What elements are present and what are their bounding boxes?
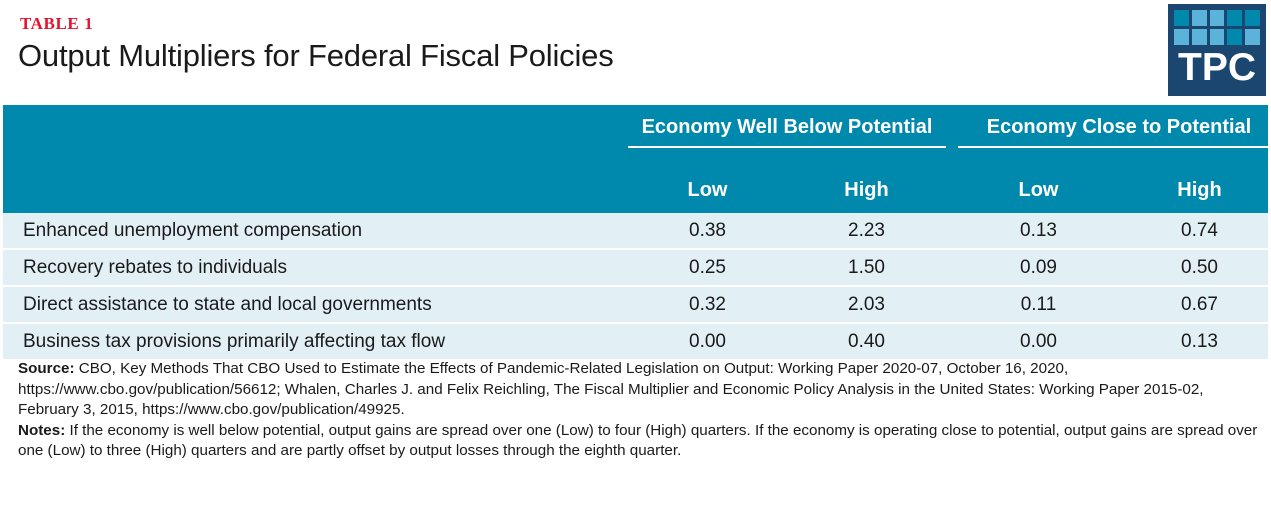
cell-value: 0.32: [628, 294, 787, 316]
logo-cell: [1227, 10, 1242, 26]
group-header-row: Economy Well Below Potential Economy Clo…: [3, 105, 1268, 167]
cell-value: 0.40: [787, 331, 946, 353]
page-title: Output Multipliers for Federal Fiscal Po…: [18, 38, 614, 74]
source-text: CBO, Key Methods That CBO Used to Estima…: [18, 360, 1204, 418]
group-header-close-to-label: Economy Close to Potential: [987, 116, 1251, 138]
logo-wordmark: TPC: [1168, 46, 1266, 90]
source-note: Source: CBO, Key Methods That CBO Used t…: [18, 359, 1260, 421]
notes-label: Notes:: [18, 422, 65, 439]
cell-value: 1.50: [787, 257, 946, 279]
logo-cell: [1245, 10, 1260, 26]
notes-text: If the economy is well below potential, …: [18, 422, 1257, 460]
row-label: Recovery rebates to individuals: [3, 257, 628, 279]
logo-cell: [1245, 29, 1260, 45]
data-table: Economy Well Below Potential Economy Clo…: [3, 105, 1268, 359]
cell-value: 0.50: [1119, 257, 1271, 279]
table-row: Enhanced unemployment compensation 0.38 …: [3, 213, 1268, 250]
group-header-well-below: Economy Well Below Potential: [628, 105, 946, 167]
figure-header: TABLE 1 Output Multipliers for Federal F…: [0, 0, 1271, 105]
group-header-rule: [958, 146, 1271, 148]
logo-cell: [1210, 29, 1225, 45]
cell-value: 0.09: [958, 257, 1119, 279]
table-kicker: TABLE 1: [20, 14, 93, 34]
group-header-close-to: Economy Close to Potential: [958, 105, 1271, 167]
group-header-gap: [946, 105, 958, 167]
table-body: Enhanced unemployment compensation 0.38 …: [3, 213, 1268, 359]
logo-cell: [1227, 29, 1242, 45]
row-label: Enhanced unemployment compensation: [3, 220, 628, 242]
tpc-logo: TPC: [1168, 4, 1266, 96]
cell-value: 0.67: [1119, 294, 1271, 316]
cell-value: 0.00: [958, 331, 1119, 353]
row-label: Business tax provisions primarily affect…: [3, 331, 628, 353]
group-header-well-below-label: Economy Well Below Potential: [642, 116, 933, 138]
logo-cell: [1192, 10, 1207, 26]
logo-grid-icon: [1174, 10, 1260, 45]
logo-cell: [1174, 29, 1189, 45]
cell-value: 0.13: [958, 220, 1119, 242]
row-label: Direct assistance to state and local gov…: [3, 294, 628, 316]
source-label: Source:: [18, 360, 75, 377]
column-header-well-high: High: [787, 179, 946, 202]
table-row: Business tax provisions primarily affect…: [3, 324, 1268, 359]
cell-value: 0.74: [1119, 220, 1271, 242]
column-header-well-low: Low: [628, 179, 787, 202]
cell-value: 2.03: [787, 294, 946, 316]
cell-value: 0.38: [628, 220, 787, 242]
cell-value: 0.25: [628, 257, 787, 279]
notes-note: Notes: If the economy is well below pote…: [18, 421, 1260, 462]
table-row: Recovery rebates to individuals 0.25 1.5…: [3, 250, 1268, 287]
logo-cell: [1192, 29, 1207, 45]
figure-footnotes: Source: CBO, Key Methods That CBO Used t…: [18, 359, 1260, 462]
column-header-close-high: High: [1119, 179, 1271, 202]
cell-value: 0.13: [1119, 331, 1271, 353]
column-header-close-low: Low: [958, 179, 1119, 202]
group-header-spacer: [3, 105, 628, 167]
cell-value: 0.00: [628, 331, 787, 353]
cell-value: 2.23: [787, 220, 946, 242]
logo-cell: [1174, 10, 1189, 26]
table-figure: TABLE 1 Output Multipliers for Federal F…: [0, 0, 1271, 508]
table-header: Economy Well Below Potential Economy Clo…: [3, 105, 1268, 213]
cell-value: 0.11: [958, 294, 1119, 316]
table-row: Direct assistance to state and local gov…: [3, 287, 1268, 324]
group-header-rule: [628, 146, 946, 148]
column-header-row: Low High Low High: [3, 167, 1268, 213]
logo-cell: [1210, 10, 1225, 26]
